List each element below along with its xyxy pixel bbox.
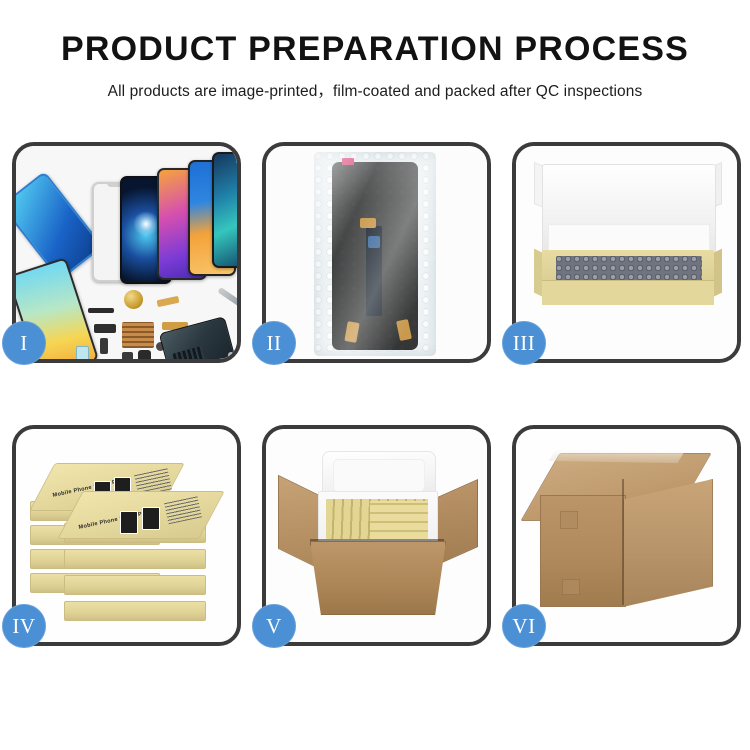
step-panel-phone-screens-and-parts <box>12 142 241 363</box>
box-tray-front <box>542 280 714 305</box>
stacked-box-edge <box>64 575 206 595</box>
box-stack: Mobile Phone Spare Parts Mobile Phone Sp… <box>24 455 229 623</box>
step-panel-stacked-retail-boxes: Mobile Phone Spare Parts Mobile Phone Sp… <box>12 425 241 646</box>
part-copper-grid <box>122 322 154 348</box>
step-cell-3: III <box>500 137 750 420</box>
step-image-4: Mobile Phone Spare Parts Mobile Phone Sp… <box>16 429 237 642</box>
step-panel-bubble-wrapped-screen <box>262 142 491 363</box>
step-badge-1: I <box>2 321 46 365</box>
stacked-box-edge <box>64 549 206 569</box>
box-art-screen-d <box>142 507 160 530</box>
part-screw-a <box>228 352 234 358</box>
step-cell-6: VI <box>500 420 750 703</box>
stacked-box-edge <box>64 601 206 621</box>
bubble-wrap-sheen <box>314 152 436 356</box>
part-earpiece <box>76 346 89 359</box>
part-camera-module-b <box>138 350 151 359</box>
page-subtitle: All products are image-printed，film-coat… <box>0 79 750 101</box>
part-coil <box>124 290 143 309</box>
part-speaker-strip <box>88 308 114 313</box>
carton-right-face <box>623 479 713 607</box>
carton-left-face <box>540 495 626 607</box>
step-image-5 <box>266 429 487 642</box>
stacked-boxes-photo: Mobile Phone Spare Parts Mobile Phone Sp… <box>16 429 237 642</box>
carton-foam-photo <box>266 429 487 642</box>
carton-sealing-tape <box>549 448 685 463</box>
step-badge-5: V <box>252 604 296 648</box>
sealed-carton-photo <box>516 429 737 642</box>
bubble-wrap-photo <box>266 146 487 359</box>
carton-corner-seam <box>622 479 624 605</box>
step-panel-open-inner-box <box>512 142 741 363</box>
product-preparation-infographic: PRODUCT PREPARATION PROCESS All products… <box>0 0 750 750</box>
step-panel-carton-with-foam-box <box>262 425 491 646</box>
carton-patch-upper <box>560 511 578 529</box>
carton-front-panel <box>310 541 446 615</box>
step-image-6 <box>516 429 737 642</box>
step-badge-6: VI <box>502 604 546 648</box>
phone-parts-photo <box>16 146 237 359</box>
phone-screen-teal <box>212 152 237 268</box>
steps-grid: I II <box>0 137 750 703</box>
step-image-2 <box>266 146 487 359</box>
packed-boxes-row <box>370 501 428 539</box>
step-image-3 <box>516 146 737 359</box>
header: PRODUCT PREPARATION PROCESS All products… <box>0 0 750 101</box>
step-cell-4: Mobile Phone Spare Parts Mobile Phone Sp… <box>0 420 250 703</box>
box-art-screen-c <box>120 511 138 534</box>
step-badge-3: III <box>502 321 546 365</box>
step-panel-sealed-shipping-carton <box>512 425 741 646</box>
step-badge-2: II <box>252 321 296 365</box>
step-cell-2: II <box>250 137 500 420</box>
part-tweezers <box>217 287 237 311</box>
step-badge-4: IV <box>2 604 46 648</box>
carton-patch-lower <box>562 579 580 595</box>
part-flex-cable-a <box>157 296 180 307</box>
step-cell-1: I <box>0 137 250 420</box>
part-flex-cable-d <box>100 338 108 354</box>
open-box-photo <box>516 146 737 359</box>
part-camera-module-a <box>122 352 133 359</box>
page-title: PRODUCT PREPARATION PROCESS <box>0 32 750 68</box>
step-image-1 <box>16 146 237 359</box>
part-flex-cable-c <box>94 324 116 333</box>
step-cell-5: V <box>250 420 500 703</box>
